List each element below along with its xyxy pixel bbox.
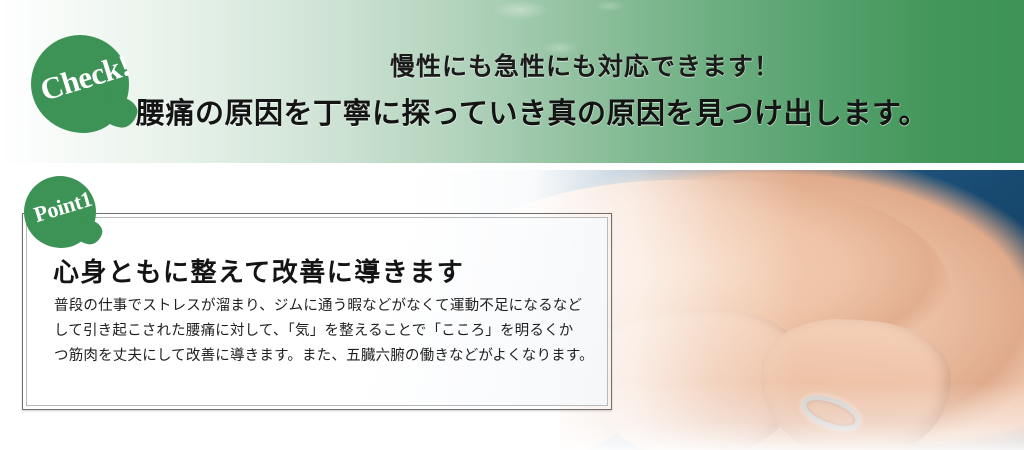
point-panel-inner: 心身ともに整えて改善に導きます 普段の仕事でストレスが溜まり、ジムに通う暇などが… bbox=[26, 217, 608, 406]
point-body-line: して引き起こされた腰痛に対して、「気」を整えることで「こころ」を明るくか bbox=[54, 319, 594, 344]
point-body-line: 普段の仕事でストレスが溜まり、ジムに通う暇などがなくて運動不足になるなど bbox=[54, 294, 594, 319]
header-banner: Check! 慢性にも急性にも対応できます！ 腰痛の原因を丁寧に探っていき真の原… bbox=[0, 0, 1024, 163]
point1-badge: Point1 bbox=[24, 176, 96, 248]
point-heading: 心身ともに整えて改善に導きます bbox=[53, 252, 464, 289]
page-root: Check! 慢性にも急性にも対応できます！ 腰痛の原因を丁寧に探っていき真の原… bbox=[0, 0, 1024, 450]
header-headline-secondary: 腰痛の原因を丁寧に探っていき真の原因を見つけ出します。 bbox=[136, 90, 928, 132]
photo-section: 心身ともに整えて改善に導きます 普段の仕事でストレスが溜まり、ジムに通う暇などが… bbox=[0, 170, 1024, 450]
point-panel: 心身ともに整えて改善に導きます 普段の仕事でストレスが溜まり、ジムに通う暇などが… bbox=[22, 213, 612, 410]
header-headline-primary: 慢性にも急性にも対応できます！ bbox=[390, 47, 780, 83]
check-badge: Check! bbox=[31, 35, 129, 133]
point-body: 普段の仕事でストレスが溜まり、ジムに通う暇などがなくて運動不足になるなど して引… bbox=[54, 294, 594, 369]
point-body-line: つ筋肉を丈夫にして改善に導きます。また、五臓六腑の働きなどがよくなります。 bbox=[54, 344, 594, 369]
